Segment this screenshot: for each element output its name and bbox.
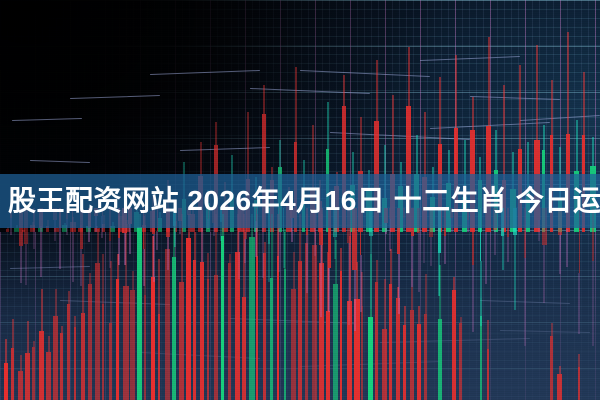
volume-candlestick	[340, 248, 342, 400]
volume-candlestick-body	[410, 310, 414, 400]
volume-candlestick-body	[277, 256, 279, 400]
volume-candlestick-body	[123, 286, 129, 400]
hanging-candlestick-wick	[472, 265, 473, 332]
volume-candlestick	[347, 236, 352, 400]
moving-average-line	[420, 56, 520, 61]
hanging-candlestick-wick	[398, 254, 399, 314]
hanging-candlestick-wick	[124, 233, 125, 265]
volume-candlestick	[389, 249, 392, 400]
volume-candlestick-body	[165, 249, 170, 400]
volume-candlestick-body	[270, 278, 273, 400]
volume-candlestick-wick	[208, 253, 209, 279]
volume-candlestick-body	[109, 323, 112, 400]
volume-candlestick-wick	[357, 262, 358, 299]
volume-candlestick-wick	[159, 259, 160, 314]
hanging-candlestick-wick	[412, 236, 413, 287]
volume-candlestick-wick	[285, 229, 286, 269]
volume-candlestick-body	[4, 363, 8, 400]
volume-candlestick	[221, 214, 224, 400]
hanging-candlestick-wick	[424, 231, 425, 263]
volume-candlestick	[487, 320, 489, 400]
moving-average-line	[470, 96, 560, 100]
volume-candlestick-body	[361, 306, 363, 400]
volume-candlestick-wick	[404, 306, 405, 325]
volume-candlestick	[354, 262, 360, 400]
volume-candlestick-body	[186, 238, 191, 400]
volume-candlestick	[298, 214, 302, 400]
candlestick-body	[38, 228, 43, 232]
volume-candlestick-body	[144, 295, 146, 400]
volume-candlestick	[109, 261, 112, 400]
candlestick-wick	[248, 112, 249, 179]
volume-candlestick	[151, 236, 155, 400]
candlestick-wick	[440, 77, 441, 144]
volume-candlestick-body	[53, 316, 58, 400]
hanging-candlestick-wick	[118, 238, 119, 265]
volume-candlestick	[333, 240, 338, 400]
volume-candlestick-wick	[153, 236, 154, 276]
volume-candlestick	[4, 339, 8, 400]
hanging-candlestick-wick	[335, 237, 336, 259]
hanging-candlestick-wick	[349, 243, 350, 325]
volume-candlestick-wick	[117, 254, 118, 279]
volume-candlestick-body	[319, 263, 324, 400]
volume-candlestick	[179, 214, 184, 400]
hanging-candlestick-wick	[72, 232, 73, 282]
volume-candlestick-body	[578, 367, 580, 400]
hanging-candlestick-wick	[238, 231, 239, 280]
hanging-candlestick-wick	[269, 244, 270, 282]
volume-candlestick-body	[487, 349, 489, 400]
volume-candlestick-body	[389, 284, 392, 400]
volume-candlestick	[284, 229, 286, 400]
candlestick-wick	[583, 72, 584, 135]
volume-candlestick	[319, 214, 324, 400]
hanging-candlestick-wick	[143, 249, 144, 286]
candlestick-wick	[488, 37, 489, 126]
moving-average-line	[430, 122, 550, 129]
moving-average-line	[230, 318, 360, 324]
hanging-candlestick-wick	[494, 230, 495, 255]
hanging-candlestick-wick	[485, 232, 486, 284]
hanging-candlestick-wick	[283, 232, 284, 268]
candlestick-wick	[376, 60, 377, 122]
volume-candlestick-body	[193, 260, 196, 400]
volume-candlestick-wick	[398, 287, 399, 298]
volume-candlestick-body	[298, 261, 302, 400]
candlestick-wick	[504, 85, 505, 180]
volume-candlestick-wick	[229, 254, 230, 263]
hanging-candlestick-wick	[508, 237, 509, 262]
hanging-candlestick-wick	[502, 236, 503, 270]
volume-candlestick-body	[452, 290, 456, 400]
volume-candlestick	[382, 279, 387, 400]
volume-candlestick	[438, 265, 442, 400]
moving-average-line	[60, 300, 170, 305]
hanging-candlestick-wick	[174, 226, 175, 247]
moving-average-line	[300, 70, 430, 77]
volume-candlestick	[291, 252, 296, 400]
candlestick-body	[14, 228, 19, 232]
volume-candlestick	[60, 326, 63, 400]
volume-candlestick-body	[130, 290, 135, 400]
hanging-candlestick-wick	[439, 253, 440, 296]
volume-candlestick-wick	[559, 366, 560, 374]
volume-candlestick-body	[403, 325, 406, 400]
volume-candlestick-body	[354, 299, 360, 400]
volume-candlestick	[74, 316, 76, 400]
volume-candlestick-body	[417, 324, 421, 400]
volume-candlestick	[326, 252, 330, 400]
hanging-candlestick-wick	[321, 245, 322, 317]
candlestick-wick	[496, 130, 497, 170]
volume-candlestick-body	[368, 317, 373, 400]
hanging-candlestick-wick	[201, 228, 202, 262]
volume-candlestick	[242, 214, 246, 400]
volume-candlestick-wick	[48, 336, 49, 352]
volume-candlestick-wick	[20, 355, 21, 371]
candlestick-wick	[520, 65, 521, 149]
candlestick-wick	[424, 112, 425, 177]
volume-candlestick	[18, 355, 23, 400]
volume-candlestick-wick	[41, 289, 42, 331]
volume-candlestick-wick	[328, 252, 329, 311]
hanging-candlestick-wick	[153, 234, 154, 282]
volume-candlestick-wick	[97, 229, 98, 262]
volume-candlestick-body	[438, 319, 442, 400]
volume-candlestick-body	[228, 263, 231, 400]
volume-candlestick-body	[396, 298, 400, 400]
volume-candlestick	[95, 229, 100, 400]
volume-candlestick	[81, 254, 85, 400]
hanging-candlestick-wick	[130, 224, 131, 254]
hanging-candlestick-wick	[89, 227, 90, 242]
volume-candlestick-body	[88, 284, 92, 400]
hanging-candlestick-wick	[544, 245, 545, 303]
volume-candlestick-wick	[390, 249, 391, 283]
volume-candlestick-body	[158, 314, 160, 400]
volume-candlestick	[410, 269, 414, 400]
volume-candlestick	[550, 323, 553, 400]
volume-candlestick	[123, 220, 129, 400]
volume-candlestick-wick	[370, 254, 371, 317]
candlestick-wick	[280, 140, 281, 167]
hanging-candlestick-wick	[168, 237, 169, 270]
volume-candlestick-wick	[454, 277, 455, 290]
volume-candlestick-body	[221, 236, 224, 400]
candlestick-wick	[537, 45, 538, 140]
candlestick-wick	[593, 137, 594, 166]
volume-candlestick-body	[375, 282, 378, 400]
candlestick-wick	[408, 47, 409, 106]
hanging-candlestick-wick	[157, 231, 158, 250]
volume-candlestick	[452, 277, 456, 400]
candlestick-wick	[344, 75, 345, 107]
volume-candlestick	[116, 254, 119, 400]
hanging-candlestick	[592, 208, 594, 346]
hanging-candlestick	[524, 208, 526, 346]
volume-candlestick-body	[32, 347, 35, 400]
volume-candlestick-body	[179, 282, 184, 400]
volume-candlestick-wick	[27, 321, 28, 352]
volume-candlestick	[480, 298, 482, 400]
moving-average-line	[520, 115, 600, 121]
hanging-candlestick-wick	[279, 229, 280, 272]
hanging-candlestick-wick	[418, 233, 419, 292]
volume-candlestick-body	[207, 279, 209, 400]
volume-candlestick-body	[347, 301, 352, 400]
volume-candlestick-wick	[293, 252, 294, 290]
candlestick-body	[22, 230, 25, 232]
volume-candlestick-body	[459, 323, 462, 400]
volume-candlestick	[417, 306, 421, 400]
hanging-candlestick-wick	[431, 237, 432, 266]
candlestick-wick	[576, 120, 577, 171]
candlestick-wick	[360, 117, 361, 171]
stock-chart-banner-image: 股王配资网站 2026年4月16日 十二生肖 今日运势	[0, 0, 600, 400]
volume-candlestick	[172, 214, 176, 400]
volume-candlestick-body	[116, 279, 119, 400]
candlestick-wick	[416, 135, 417, 175]
volume-candlestick-wick	[83, 254, 84, 314]
volume-candlestick-body	[200, 262, 204, 400]
moving-average-line	[500, 330, 590, 333]
volume-candlestick	[200, 214, 204, 400]
volume-candlestick-wick	[419, 306, 420, 324]
hanging-candlestick-wick	[445, 236, 446, 264]
volume-candlestick	[102, 254, 104, 400]
volume-candlestick-body	[284, 269, 286, 400]
volume-candlestick	[137, 214, 142, 400]
volume-candlestick	[312, 214, 317, 400]
volume-candlestick-wick	[6, 339, 7, 362]
volume-candlestick-body	[480, 316, 482, 400]
volume-candlestick-body	[95, 263, 100, 400]
candlestick-wick	[392, 95, 393, 174]
volume-candlestick-wick	[55, 289, 56, 316]
volume-candlestick	[25, 321, 30, 400]
volume-candlestick-body	[81, 313, 85, 400]
candlestick	[22, 228, 25, 232]
candlestick-wick	[216, 122, 217, 145]
hanging-candlestick-wick	[560, 235, 561, 274]
volume-candlestick	[375, 260, 378, 400]
volume-candlestick	[361, 272, 363, 400]
volume-candlestick-wick	[110, 261, 111, 324]
volume-candlestick-wick	[194, 232, 195, 260]
volume-candlestick-wick	[90, 273, 91, 284]
hanging-candlestick-wick	[593, 261, 594, 346]
volume-candlestick	[46, 336, 51, 400]
hanging-candlestick-wick	[360, 255, 361, 312]
volume-candlestick	[32, 341, 35, 400]
volume-candlestick	[193, 232, 196, 400]
candlestick-wick	[264, 85, 265, 115]
volume-candlestick	[11, 319, 14, 400]
hanging-candlestick-wick	[354, 270, 355, 331]
volume-candlestick-body	[11, 348, 14, 400]
volume-candlestick-body	[305, 243, 308, 400]
hanging-candlestick-wick	[480, 261, 481, 326]
volume-candlestick-body	[214, 275, 218, 400]
candlestick-body	[94, 228, 100, 232]
banner-title-text: 股王配资网站 2026年4月16日 十二生肖 今日运势	[8, 187, 600, 215]
candlestick-series-lower	[0, 208, 600, 400]
volume-candlestick-wick	[488, 320, 489, 349]
volume-candlestick	[368, 254, 373, 400]
candlestick-wick	[23, 228, 24, 230]
title-banner: 股王配资网站 2026年4月16日 十二生肖 今日运势	[0, 174, 600, 228]
volume-candlestick-body	[424, 314, 427, 400]
hanging-candlestick-wick	[306, 235, 307, 293]
volume-candlestick-body	[25, 353, 30, 400]
volume-candlestick-body	[67, 304, 70, 400]
volume-candlestick-body	[256, 256, 258, 400]
volume-candlestick	[214, 214, 218, 400]
volume-candlestick-body	[382, 329, 387, 400]
volume-candlestick	[249, 214, 255, 400]
candlestick-wick	[456, 55, 457, 129]
volume-candlestick	[186, 214, 191, 400]
candlestick-wick	[327, 102, 328, 149]
volume-candlestick	[459, 317, 462, 400]
volume-candlestick-body	[102, 304, 104, 400]
volume-candlestick-body	[74, 327, 76, 400]
volume-candlestick	[235, 214, 240, 400]
moving-average-line	[10, 266, 90, 269]
hanging-candlestick-wick	[329, 268, 330, 312]
moving-average-line	[250, 88, 370, 94]
volume-candlestick-wick	[167, 225, 168, 249]
volume-candlestick-wick	[460, 317, 461, 323]
volume-candlestick-wick	[68, 291, 69, 304]
volume-candlestick-wick	[132, 271, 133, 290]
volume-candlestick-wick	[103, 254, 104, 303]
hanging-candlestick-wick	[579, 273, 580, 334]
volume-candlestick-body	[60, 333, 63, 400]
volume-candlestick	[158, 259, 160, 400]
volume-candlestick	[88, 273, 92, 400]
volume-candlestick	[277, 214, 279, 400]
volume-candlestick-wick	[425, 274, 426, 315]
volume-candlestick-body	[340, 271, 342, 400]
moving-average-line	[30, 160, 90, 163]
volume-candlestick-body	[242, 297, 246, 400]
volume-candlestick-wick	[264, 242, 265, 252]
volume-candlestick	[67, 291, 70, 400]
volume-candlestick-wick	[440, 265, 441, 319]
volume-candlestick	[578, 354, 580, 400]
volume-candlestick-body	[291, 289, 296, 400]
volume-candlestick	[144, 214, 146, 400]
volume-candlestick	[207, 253, 209, 400]
hanging-candlestick-wick	[524, 258, 525, 346]
chart-lower-panel	[0, 228, 600, 400]
volume-candlestick	[424, 274, 427, 400]
candlestick-wick	[543, 125, 544, 151]
volume-candlestick	[396, 287, 400, 400]
hanging-candlestick-wick	[26, 244, 27, 285]
volume-candlestick-wick	[384, 279, 385, 329]
hanging-candlestick-wick	[109, 241, 110, 268]
volume-candlestick-body	[235, 252, 240, 400]
volume-candlestick	[557, 366, 562, 400]
moving-average-line	[300, 361, 440, 367]
moving-average-line	[480, 300, 570, 304]
moving-average-line	[140, 352, 260, 359]
volume-candlestick-wick	[349, 236, 350, 301]
hanging-candlestick-wick	[245, 239, 246, 263]
volume-candlestick-wick	[551, 323, 552, 336]
moving-average-line	[380, 338, 530, 343]
volume-candlestick-body	[46, 352, 51, 400]
volume-candlestick-body	[550, 336, 553, 400]
volume-candlestick	[305, 214, 308, 400]
volume-candlestick-body	[18, 371, 23, 400]
volume-candlestick-wick	[61, 326, 62, 333]
moving-average-line	[70, 95, 160, 99]
volume-candlestick-wick	[481, 298, 482, 316]
candlestick-body	[6, 229, 9, 232]
candlestick-wick	[551, 80, 552, 135]
moving-average-line	[12, 118, 82, 121]
volume-candlestick-wick	[362, 272, 363, 306]
candlestick-wick	[568, 32, 569, 134]
hanging-candlestick-wick	[263, 227, 264, 278]
moving-average-line	[150, 70, 260, 75]
volume-candlestick	[270, 214, 273, 400]
moving-average-line	[180, 147, 270, 151]
hanging-candlestick-wick	[59, 228, 60, 269]
moving-average-line	[330, 132, 470, 140]
volume-candlestick-body	[557, 374, 562, 400]
volume-candlestick	[39, 289, 44, 400]
volume-candlestick	[53, 289, 58, 400]
volume-candlestick-wick	[75, 316, 76, 328]
volume-candlestick-body	[249, 237, 255, 400]
volume-candlestick-wick	[579, 354, 580, 368]
volume-candlestick-wick	[33, 341, 34, 347]
volume-candlestick-wick	[412, 269, 413, 310]
volume-candlestick-wick	[126, 220, 127, 286]
volume-candlestick-body	[312, 245, 317, 400]
hanging-candlestick-wick	[566, 229, 567, 267]
volume-candlestick-body	[326, 311, 330, 400]
hanging-candlestick-wick	[314, 228, 315, 256]
volume-candlestick	[256, 214, 258, 400]
volume-candlestick-wick	[341, 248, 342, 271]
volume-candlestick	[403, 306, 406, 400]
volume-candlestick-body	[151, 277, 155, 400]
volume-candlestick-body	[137, 227, 142, 400]
volume-candlestick-body	[333, 284, 338, 400]
volume-candlestick	[130, 271, 135, 400]
candlestick-body	[78, 228, 83, 232]
volume-candlestick-body	[172, 257, 176, 400]
volume-candlestick-wick	[376, 260, 377, 282]
volume-candlestick-wick	[12, 319, 13, 348]
volume-candlestick-body	[39, 331, 44, 400]
volume-candlestick	[263, 242, 266, 400]
hanging-candlestick-wick	[370, 236, 371, 309]
hanging-candlestick-wick	[515, 235, 516, 310]
hanging-candlestick-wick	[20, 246, 21, 283]
hanging-candlestick-wick	[81, 249, 82, 286]
candlestick-wick	[295, 67, 296, 142]
volume-candlestick-body	[263, 253, 266, 400]
candlestick-wick	[472, 97, 473, 130]
candlestick-wick	[200, 142, 201, 176]
